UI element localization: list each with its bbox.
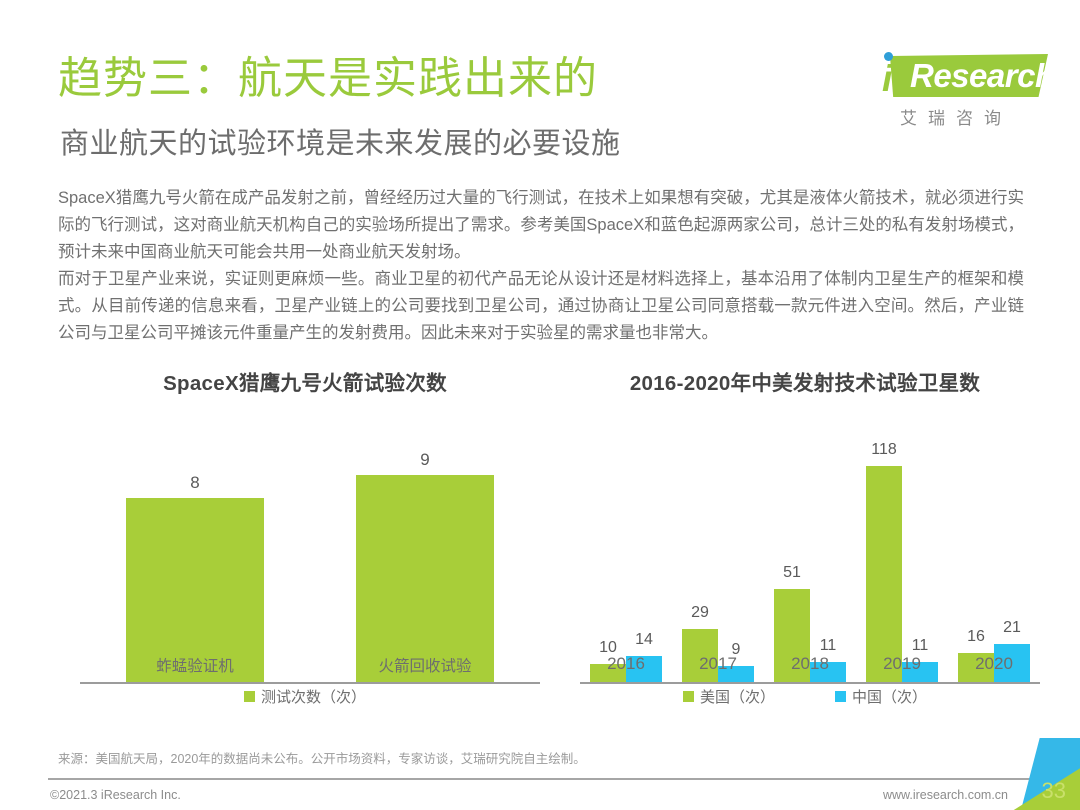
bar-group: 5111: [764, 416, 856, 682]
iresearch-logo: i Research 艾瑞咨询: [862, 48, 1062, 134]
bar-group: 1014: [580, 416, 672, 682]
legend-swatch-icon: [683, 691, 694, 702]
legend-item[interactable]: 中国（次）: [835, 686, 927, 707]
bar-value-label: 29: [691, 604, 709, 622]
legend-label: 中国（次）: [852, 686, 927, 707]
legend-label: 测试次数（次）: [261, 686, 366, 707]
chart-legend: 美国（次）中国（次）: [560, 686, 1050, 707]
chart-plot-area: 10142995111118111621: [560, 416, 1050, 684]
x-axis-line: [80, 682, 540, 684]
bar-value-label: 11: [912, 637, 929, 655]
footer-copyright: ©2021.3 iResearch Inc.: [50, 788, 181, 802]
page-header: 趋势三：航天是实践出来的 商业航天的试验环境是未来发展的必要设施 i Resea…: [0, 0, 1080, 175]
bar: 118: [866, 466, 902, 682]
page-title: 趋势三：航天是实践出来的: [58, 52, 598, 106]
legend-swatch-icon: [244, 691, 255, 702]
page-subtitle: 商业航天的试验环境是未来发展的必要设施: [60, 126, 621, 162]
legend-swatch-icon: [835, 691, 846, 702]
bar-value-label: 16: [967, 628, 985, 646]
bar-group: 8: [80, 416, 310, 682]
source-note: 来源：美国航天局，2020年的数据尚未公布。公开市场资料，专家访谈，艾瑞研究院自…: [58, 748, 586, 767]
bar-pair: 9: [356, 475, 494, 682]
chart-plot-area: 89: [60, 416, 550, 684]
chart-spacex-falcon9-tests: SpaceX猎鹰九号火箭试验次数 89 蚱蜢验证机火箭回收试验 测试次数（次）: [60, 358, 550, 748]
bar-group: 1621: [948, 416, 1040, 682]
paragraph-2: 而对于卫星产业来说，实证则更麻烦一些。商业卫星的初代产品无论从设计还是材料选择上…: [58, 266, 1024, 347]
bar-value-label: 21: [1003, 619, 1021, 637]
bar: 9: [356, 475, 494, 682]
bar-value-label: 8: [190, 473, 199, 493]
x-axis-label: 蚱蜢验证机: [80, 654, 310, 676]
logo-chinese-name: 艾瑞咨询: [900, 104, 1012, 129]
bar-value-label: 11: [820, 637, 837, 655]
chart-legend: 测试次数（次）: [60, 686, 550, 707]
bar-group: 11811: [856, 416, 948, 682]
chart-title: 2016-2020年中美发射技术试验卫星数: [560, 366, 1050, 396]
x-axis-label: 2020: [948, 654, 1040, 674]
x-axis-labels: 20162017201820192020: [580, 654, 1040, 674]
footer-divider: [48, 778, 1032, 780]
bar-value-label: 9: [420, 450, 429, 470]
x-axis-label: 2019: [856, 654, 948, 674]
body-text: SpaceX猎鹰九号火箭在成产品发射之前，曾经经历过大量的飞行测试，在技术上如果…: [58, 185, 1024, 347]
legend-item[interactable]: 测试次数（次）: [244, 686, 366, 707]
x-axis-label: 2018: [764, 654, 856, 674]
x-axis-label: 火箭回收试验: [310, 654, 540, 676]
footer-website: www.iresearch.com.cn: [883, 788, 1008, 802]
page-number: 33: [1042, 778, 1066, 804]
paragraph-1: SpaceX猎鹰九号火箭在成产品发射之前，曾经经历过大量的飞行测试，在技术上如果…: [58, 185, 1024, 266]
x-axis-label: 2016: [580, 654, 672, 674]
bar-value-label: 14: [635, 631, 653, 649]
x-axis-label: 2017: [672, 654, 764, 674]
x-axis-line: [580, 682, 1040, 684]
bar-value-label: 51: [783, 564, 801, 582]
chart-cn-us-experimental-satellites: 2016-2020年中美发射技术试验卫星数 101429951111181116…: [560, 358, 1050, 748]
bar-pair: 11811: [866, 466, 938, 682]
logo-wordmark: Research: [910, 57, 1055, 94]
bar-groups: 89: [80, 416, 540, 682]
bar-value-label: 118: [871, 441, 897, 459]
legend-item[interactable]: 美国（次）: [683, 686, 775, 707]
bar-group: 299: [672, 416, 764, 682]
charts-area: SpaceX猎鹰九号火箭试验次数 89 蚱蜢验证机火箭回收试验 测试次数（次） …: [0, 358, 1080, 758]
logo-letter-i: i: [882, 60, 892, 97]
bar-groups: 10142995111118111621: [580, 416, 1040, 682]
chart-title: SpaceX猎鹰九号火箭试验次数: [60, 366, 550, 396]
logo-dot-icon: [884, 52, 893, 61]
logo-mark: i Research: [862, 48, 1052, 100]
bar-group: 9: [310, 416, 540, 682]
x-axis-labels: 蚱蜢验证机火箭回收试验: [80, 654, 540, 676]
legend-label: 美国（次）: [700, 686, 775, 707]
